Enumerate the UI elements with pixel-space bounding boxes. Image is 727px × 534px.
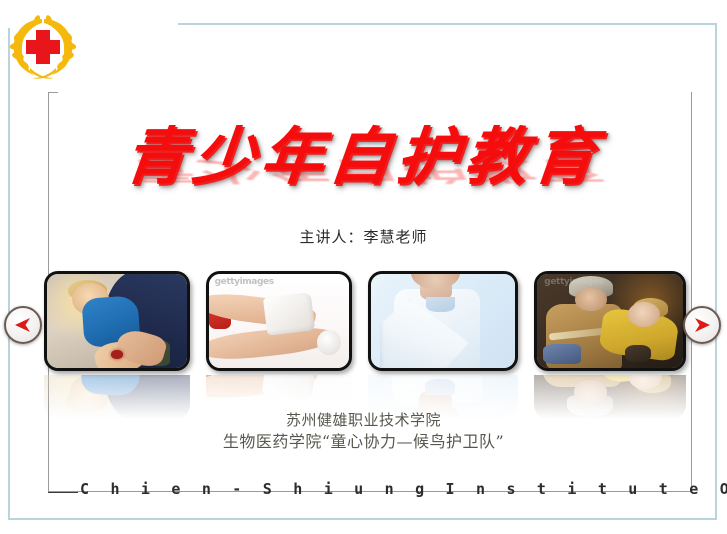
next-slide-button[interactable] <box>683 306 721 344</box>
photo-arm-bandaging: gettyimages <box>206 271 352 371</box>
red-cross-laurel-logo <box>6 10 80 84</box>
page-title: 青少年自护教育 <box>122 126 605 188</box>
inner-frame-top-stub <box>48 92 58 93</box>
english-institute-caption: C h i e n - S h i u n g I n s t i t u t … <box>80 480 692 498</box>
page-title-reflection: 青少年自护教育 <box>125 158 604 184</box>
presentation-slide: 青少年自护教育 青少年自护教育 主讲人：李慧老师 <box>0 0 727 534</box>
photo-arm-sling <box>368 271 518 371</box>
caption-connector-line <box>48 492 78 493</box>
org-line-1: 苏州健雄职业技术学院 <box>0 410 727 431</box>
photo-watermark: gettyimages <box>215 277 274 287</box>
photo-child-knee-firstaid <box>44 271 190 371</box>
arrow-right-icon <box>692 317 712 333</box>
organization-credit: 苏州健雄职业技术学院 生物医药学院“童心协力—候鸟护卫队” <box>0 410 727 452</box>
photo-watermark: gettyimages <box>544 277 603 287</box>
presenter-label: 主讲人：李慧老师 <box>0 226 727 247</box>
photo-strip: gettyimages gett <box>44 271 692 373</box>
org-line-2: 生物医药学院“童心协力—候鸟护卫队” <box>0 431 727 452</box>
arrow-left-icon <box>13 317 33 333</box>
photo-firefighter-rescue: gettyimages <box>534 271 686 371</box>
previous-slide-button[interactable] <box>4 306 42 344</box>
